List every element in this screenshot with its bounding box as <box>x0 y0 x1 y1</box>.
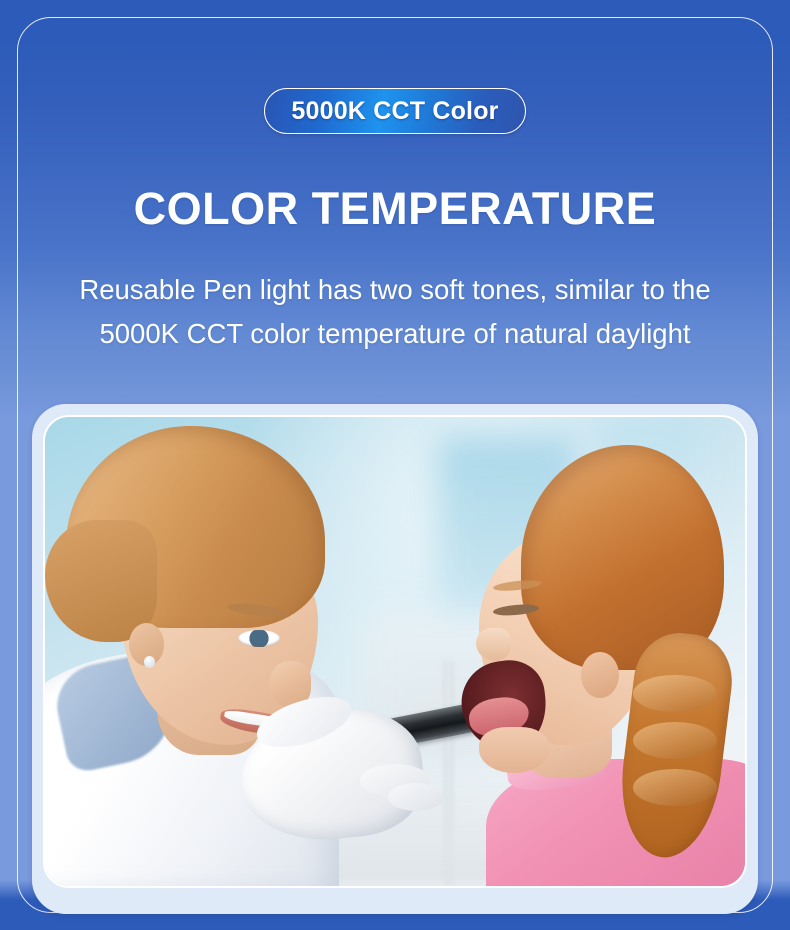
subtitle-text: Reusable Pen light has two soft tones, s… <box>0 268 790 356</box>
doctor-eye <box>238 630 280 647</box>
child-braid-knot-3 <box>633 769 717 807</box>
glove-finger-2 <box>388 783 444 811</box>
product-banner: 5000K CCT Color COLOR TEMPERATURE Reusab… <box>0 0 790 930</box>
child-ear <box>581 652 620 699</box>
badge-label: 5000K CCT Color <box>291 97 498 126</box>
subtitle-line-2: 5000K CCT color temperature of natural d… <box>0 312 790 356</box>
photo-illustration <box>45 417 745 886</box>
cct-color-badge: 5000K CCT Color <box>264 88 525 134</box>
subtitle-line-1: Reusable Pen light has two soft tones, s… <box>0 268 790 312</box>
page-title: COLOR TEMPERATURE <box>0 182 790 236</box>
child-braid-knot-2 <box>633 722 717 760</box>
badge-container: 5000K CCT Color <box>0 88 790 134</box>
product-use-photo <box>43 415 747 888</box>
photo-card <box>32 404 758 914</box>
